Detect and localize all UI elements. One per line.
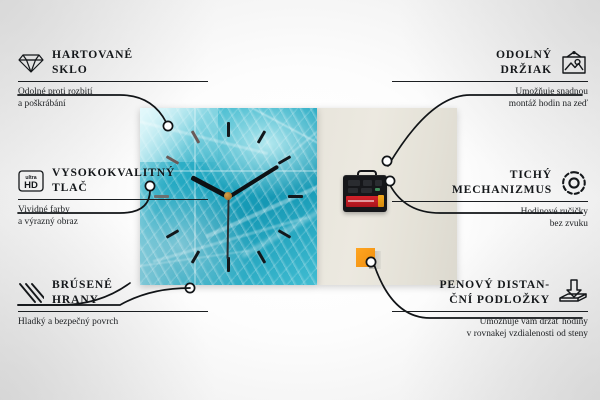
feature-title: BRÚSENÉ HRANY: [52, 278, 113, 307]
ultra-hd-icon-label: HD: [24, 180, 38, 191]
feature-block-silent-mechanism: TICHÝ MECHANIZMUS Hodinové ručičky bez z…: [392, 168, 588, 231]
feature-header: TICHÝ MECHANIZMUS: [392, 168, 588, 197]
feature-title: PENOVÝ DISTAN- ČNÍ PODLOŽKY: [439, 278, 550, 307]
infographic-canvas: HARTOVANÉ SKLO Odolné proti rozbití a po…: [0, 0, 600, 400]
feature-divider: [392, 81, 588, 82]
diagonal-lines-icon: [18, 282, 44, 304]
picture-frame-hanging-icon: [560, 50, 588, 76]
connector-endpoint-glass: [163, 121, 172, 130]
feature-divider: [392, 201, 588, 202]
feature-block-ground-edges: BRÚSENÉ HRANY Hladký a bezpečný povrch: [18, 278, 208, 328]
feature-description: Umožňuje snadnou montáž hodin na zeď: [392, 86, 588, 111]
feature-divider: [18, 81, 208, 82]
feature-title: TICHÝ MECHANIZMUS: [452, 168, 552, 197]
feature-block-high-quality-print: ultra HD VYSOKOKVALITNÝ TLAČ Vividné far…: [18, 166, 208, 229]
feature-description: Hodinové ručičky bez zvuku: [392, 206, 588, 231]
connector-endpoint-holder: [382, 156, 391, 165]
arrow-down-layers-icon: [558, 279, 588, 307]
feature-title: VYSOKOKVALITNÝ TLAČ: [52, 166, 175, 195]
feature-block-durable-holder: ODOLNÝ DRŽIAK Umožňuje snadnou montáž ho…: [392, 48, 588, 111]
diamond-icon: [18, 52, 44, 74]
feature-header: ultra HD VYSOKOKVALITNÝ TLAČ: [18, 166, 208, 195]
connector-endpoint-foam: [366, 257, 375, 266]
ultra-hd-icon: ultra HD: [18, 169, 44, 193]
gear-icon: [560, 169, 588, 197]
feature-block-foam-spacers: PENOVÝ DISTAN- ČNÍ PODLOŽKY Umožňuje vám…: [392, 278, 588, 341]
feature-description: Umožňuje vám držať hodiny v rovnakej vzd…: [392, 316, 588, 341]
feature-description: Hladký a bezpečný povrch: [18, 316, 208, 328]
feature-description: Vividné farby a výrazný obraz: [18, 204, 208, 229]
feature-title: ODOLNÝ DRŽIAK: [496, 48, 552, 77]
feature-header: BRÚSENÉ HRANY: [18, 278, 208, 307]
feature-description: Odolné proti rozbití a poškrábání: [18, 86, 208, 111]
feature-divider: [18, 311, 208, 312]
feature-block-tempered-glass: HARTOVANÉ SKLO Odolné proti rozbití a po…: [18, 48, 208, 111]
feature-header: PENOVÝ DISTAN- ČNÍ PODLOŽKY: [392, 278, 588, 307]
feature-header: HARTOVANÉ SKLO: [18, 48, 208, 77]
feature-divider: [18, 199, 208, 200]
feature-header: ODOLNÝ DRŽIAK: [392, 48, 588, 77]
feature-title: HARTOVANÉ SKLO: [52, 48, 133, 77]
feature-divider: [392, 311, 588, 312]
